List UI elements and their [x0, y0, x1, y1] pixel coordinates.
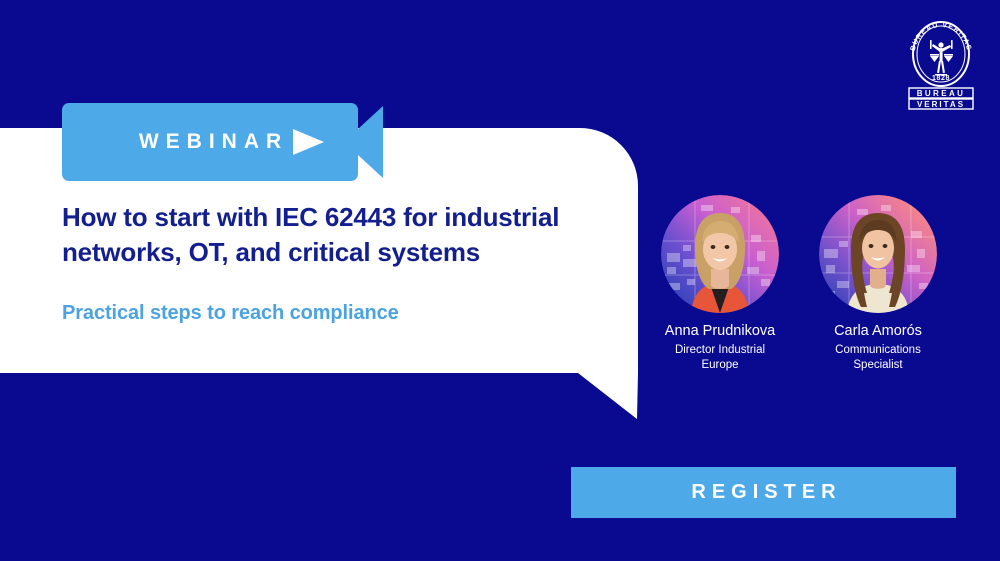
speaker-name: Anna Prudnikova	[660, 323, 780, 340]
bureau-veritas-logo: BUREAU VERITAS 1828 BUREAU	[897, 18, 985, 110]
logo-wordmark-veritas: VERITAS	[917, 100, 965, 109]
avatar-photo	[661, 195, 779, 313]
page-title: How to start with IEC 62443 for industri…	[62, 200, 607, 269]
avatar	[661, 195, 779, 313]
speaker-card: Carla Amorós Communications Specialist	[818, 195, 938, 373]
logo-wordmark-bureau: BUREAU	[917, 89, 966, 98]
speaker-name: Carla Amorós	[818, 323, 938, 340]
logo-emblem: BUREAU VERITAS 1828	[910, 22, 973, 86]
webinar-badge: WEBINAR	[62, 103, 384, 181]
avatar-photo	[819, 195, 937, 313]
speaker-role: Director Industrial Europe	[660, 343, 780, 373]
avatar	[819, 195, 937, 313]
speaker-role: Communications Specialist	[818, 343, 938, 373]
page-subtitle: Practical steps to reach compliance	[62, 302, 582, 325]
video-camera-icon	[358, 106, 383, 178]
speakers-list: Anna Prudnikova Director Industrial Euro…	[650, 195, 950, 370]
logo-year: 1828	[932, 75, 950, 82]
speaker-card: Anna Prudnikova Director Industrial Euro…	[660, 195, 780, 373]
webinar-promo-banner: { "theme": { "background_navy": "#0a0a91…	[0, 0, 1000, 561]
logo-wordmark: BUREAU VERITAS	[909, 88, 973, 109]
register-button[interactable]: REGISTER	[571, 467, 956, 518]
